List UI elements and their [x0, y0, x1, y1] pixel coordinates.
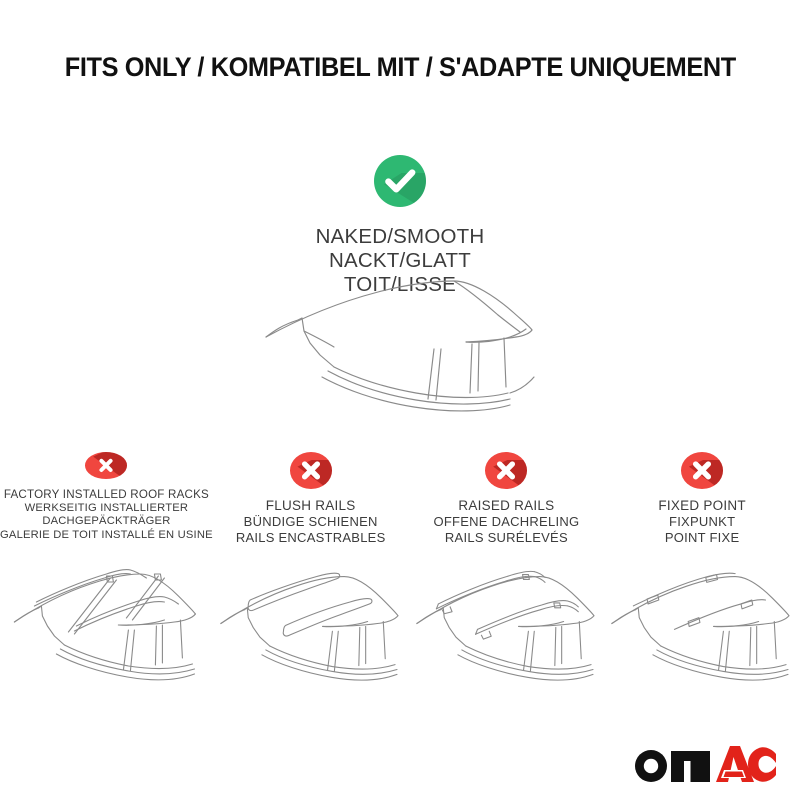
incompatible-labels: FACTORY INSTALLED ROOF RACKS WERKSEITIG … [0, 488, 213, 542]
x-glyph [681, 452, 723, 489]
flush-rails-illustration [213, 555, 409, 702]
incompatible-section: FACTORY INSTALLED ROOF RACKS WERKSEITIG … [0, 452, 800, 702]
label-en: FLUSH RAILS [213, 498, 409, 514]
label-en: RAISED RAILS [409, 498, 605, 514]
label-de-line1: WERKSEITIG INSTALLIERTER [0, 502, 213, 515]
label-fr: GALERIE DE TOIT INSTALLÉ EN USINE [0, 529, 213, 542]
page-title: FITS ONLY / KOMPATIBEL MIT / S'ADAPTE UN… [0, 52, 800, 83]
incompatible-labels: FIXED POINT FIXPUNKT POINT FIXE [604, 498, 800, 545]
label-de-line2: DACHGEPÄCKTRÄGER [0, 515, 213, 528]
incompatible-labels: RAISED RAILS OFFENE DACHRELING RAILS SUR… [409, 498, 605, 545]
raised-rails-illustration [409, 555, 605, 702]
green-check-circle-icon [374, 155, 426, 207]
incompatible-item-fixed-point: FIXED POINT FIXPUNKT POINT FIXE [604, 452, 800, 702]
red-x-circle-icon [290, 452, 332, 489]
compatible-label-en: NAKED/SMOOTH [0, 225, 800, 249]
red-x-circle-icon [681, 452, 723, 489]
label-de: OFFENE DACHRELING [409, 514, 605, 530]
x-glyph [290, 452, 332, 489]
x-glyph [485, 452, 527, 489]
smooth-roof-illustration [258, 275, 558, 415]
label-fr: POINT FIXE [604, 530, 800, 546]
fixed-point-illustration [604, 555, 800, 702]
incompatible-item-raised-rails: RAISED RAILS OFFENE DACHRELING RAILS SUR… [409, 452, 605, 702]
incompatible-item-factory-roof-racks: FACTORY INSTALLED ROOF RACKS WERKSEITIG … [0, 452, 213, 702]
page-title-text: FITS ONLY / KOMPATIBEL MIT / S'ADAPTE UN… [64, 52, 735, 83]
red-x-circle-icon [85, 452, 127, 479]
x-glyph [85, 452, 127, 479]
incompatible-labels: FLUSH RAILS BÜNDIGE SCHIENEN RAILS ENCAS… [213, 498, 409, 545]
factory-roof-rack-illustration [0, 552, 213, 702]
label-de: FIXPUNKT [604, 514, 800, 530]
compatible-label-de: NACKT/GLATT [0, 249, 800, 273]
label-fr: RAILS ENCASTRABLES [213, 530, 409, 546]
label-de: BÜNDIGE SCHIENEN [213, 514, 409, 530]
omac-logo [630, 744, 778, 784]
label-fr: RAILS SURÉLEVÉS [409, 530, 605, 546]
check-glyph [374, 155, 426, 207]
label-en: FACTORY INSTALLED ROOF RACKS [0, 488, 213, 502]
label-en: FIXED POINT [604, 498, 800, 514]
red-x-circle-icon [485, 452, 527, 489]
incompatible-item-flush-rails: FLUSH RAILS BÜNDIGE SCHIENEN RAILS ENCAS… [213, 452, 409, 702]
